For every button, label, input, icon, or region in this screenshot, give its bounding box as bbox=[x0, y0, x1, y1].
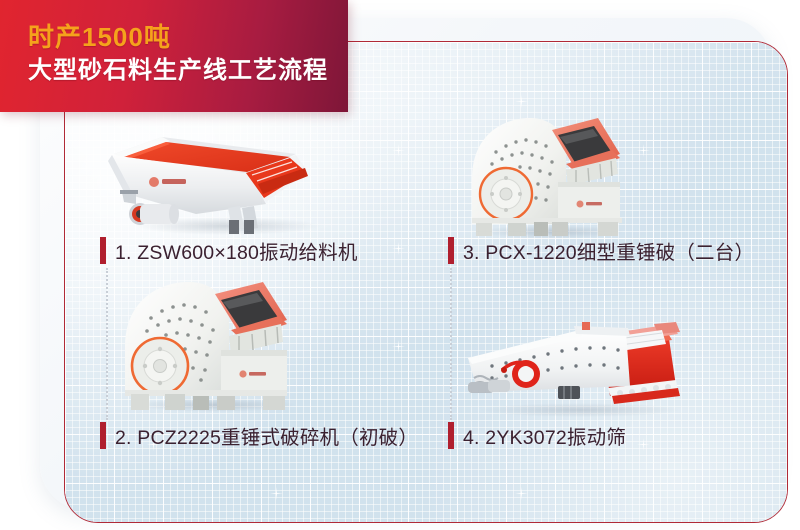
vibrating-feeder-image bbox=[100, 128, 350, 236]
header-banner: 时产1500吨 大型砂石料生产线工艺流程 bbox=[0, 0, 348, 112]
vibrating-screen-image bbox=[462, 300, 692, 418]
banner-title: 时产1500吨 bbox=[28, 24, 171, 51]
item-1-label: 1. ZSW600×180振动给料机 bbox=[100, 236, 358, 265]
item-4-label-text: 4. 2YK3072振动筛 bbox=[463, 421, 626, 450]
vibrating-feeder-svg bbox=[100, 128, 350, 236]
label-accent-bar bbox=[448, 237, 454, 264]
fine-hammer-crusher-svg bbox=[448, 112, 648, 240]
item-4-label: 4. 2YK3072振动筛 bbox=[448, 421, 626, 450]
banner-subtitle: 大型砂石料生产线工艺流程 bbox=[28, 58, 328, 84]
poster-canvas: 1. ZSW600×180振动给料机 bbox=[0, 0, 800, 530]
label-accent-bar bbox=[100, 237, 106, 264]
label-accent-bar bbox=[448, 422, 454, 449]
heavy-hammer-crusher-svg bbox=[105, 278, 320, 413]
label-accent-bar bbox=[100, 422, 106, 449]
item-3-label-text: 3. PCX-1220细型重锤破（二台） bbox=[463, 236, 754, 265]
heavy-hammer-crusher-image bbox=[105, 278, 320, 413]
item-3-label: 3. PCX-1220细型重锤破（二台） bbox=[448, 236, 754, 265]
item-2-label: 2. PCZ2225重锤式破碎机（初破） bbox=[100, 421, 418, 450]
item-1-label-text: 1. ZSW600×180振动给料机 bbox=[115, 236, 358, 265]
connector-line-right bbox=[450, 268, 452, 420]
vibrating-screen-svg bbox=[462, 300, 692, 418]
fine-hammer-crusher-image bbox=[448, 112, 648, 240]
item-2-label-text: 2. PCZ2225重锤式破碎机（初破） bbox=[115, 421, 418, 450]
